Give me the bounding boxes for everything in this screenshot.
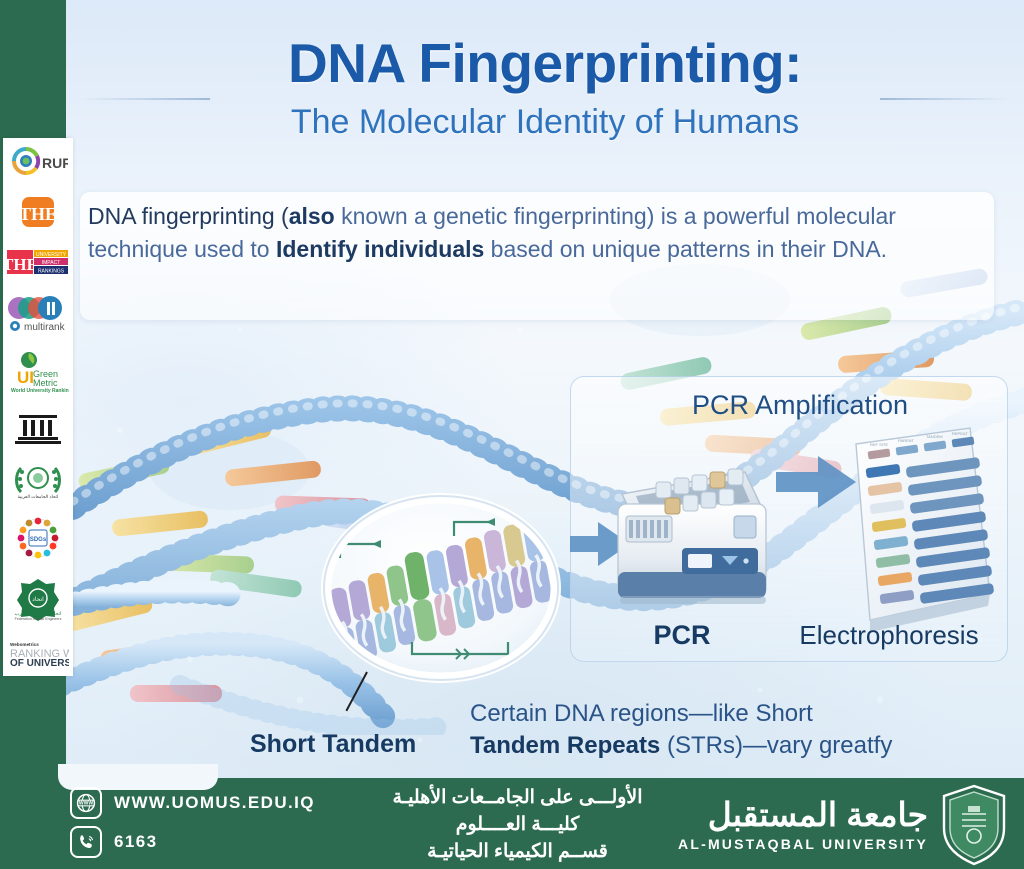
infographic-poster: DNA fingerprinting (also known a genetic… [0, 0, 1024, 869]
str-caption-line2: Tandem Repeats (STRs)—vary greatfy [470, 730, 1015, 762]
arab-universities-union-logo: اتحاد الجامعات العربية [7, 462, 69, 500]
svg-text:SDGs: SDGs [30, 537, 47, 543]
svg-text:IMPACT: IMPACT [42, 260, 61, 266]
svg-text:Federation of Arab Engineers: Federation of Arab Engineers [15, 617, 62, 621]
university-shield-logo [940, 784, 1008, 866]
brand-arabic-name: جامعة المستقبل [678, 798, 928, 833]
pcr-thermocycler [618, 469, 766, 604]
electrophoresis-gel: REF SITEPARENT TANDEMREPEAT [856, 428, 994, 632]
svg-text:RANKINGS: RANKINGS [38, 268, 65, 274]
str-caption-bold: Tandem Repeats [470, 732, 660, 759]
intro-bold-identify: Identify individuals [276, 236, 484, 262]
str-caption: Certain DNA regions—like Short Tandem Re… [470, 698, 1015, 762]
website-row[interactable]: WWW WWW.UOMUS.EDU.IQ [70, 787, 370, 819]
svg-text:Webometrics: Webometrics [10, 642, 39, 647]
intro-bold-also: also [289, 203, 335, 229]
svg-text:RUR: RUR [42, 155, 68, 171]
str-caption-line1: Certain DNA regions—like Short [470, 698, 1015, 730]
university-brand: جامعة المستقبل AL-MUSTAQBAL UNIVERSITY [678, 784, 1008, 866]
classical-pillars-logo [7, 411, 69, 445]
pcr-label: PCR [606, 620, 758, 651]
title-block: DNA Fingerprinting: The Molecular Identi… [66, 34, 1024, 142]
page-title: DNA Fingerprinting: [66, 34, 1024, 93]
footer-arabic-line-1: الأولـــى على الجامــعات الأهليـة [340, 785, 695, 812]
svg-text:اتحاد الجامعات العربية: اتحاد الجامعات العربية [18, 494, 59, 500]
str-caption-rest: (STRs)—vary greatfy [660, 732, 892, 759]
svg-text:TANDEM: TANDEM [926, 434, 943, 439]
intro-paragraph: DNA fingerprinting (also known a genetic… [88, 200, 918, 265]
webometrics-logo: Webometrics RANKING WEB OF UNIVERSITIES [7, 638, 69, 668]
federation-arab-engineers-logo: اتحاد اتحاد المهندسين العرب Federation o… [7, 577, 69, 621]
footer-arabic-line-2: كليـــة العــــلوم [340, 812, 695, 839]
ui-greenmetric-logo: UI Green Metric World University Ranking… [7, 351, 69, 393]
svg-text:THE: THE [7, 255, 38, 274]
intro-tail: based on unique patterns in their DNA. [484, 236, 887, 262]
phone-icon [70, 826, 102, 858]
svg-text:THE: THE [19, 204, 57, 224]
svg-text:multirank: multirank [24, 322, 66, 333]
rur-ranking-logo: RUR [7, 144, 69, 178]
svg-text:Metric: Metric [33, 378, 58, 388]
short-tandem-label: Short Tandem [250, 730, 450, 759]
svg-text:OF UNIVERSITIES: OF UNIVERSITIES [10, 658, 69, 668]
website-text: WWW.UOMUS.EDU.IQ [114, 793, 315, 813]
footer-arabic-line-3: قســم الكيمياء الحياتيـة [340, 839, 695, 866]
sdg-goals-logo: SDGs [7, 517, 69, 559]
svg-text:REF SITE: REF SITE [870, 442, 888, 447]
contact-block: WWW WWW.UOMUS.EDU.IQ 6163 [70, 787, 370, 865]
svg-text:UI: UI [17, 368, 34, 387]
electrophoresis-label: Electrophoresis [778, 620, 1000, 651]
svg-text:WWW: WWW [79, 801, 93, 807]
u-multirank-logo: multirank [7, 294, 69, 334]
the-impact-rankings-logo: THE UNIVERSITY IMPACT RANKINGS [7, 247, 69, 277]
svg-text:REPEAT: REPEAT [952, 431, 968, 436]
pcr-amplification-label: PCR Amplification [600, 390, 1000, 421]
globe-icon: WWW [70, 787, 102, 819]
svg-text:PARENT: PARENT [898, 438, 914, 443]
svg-text:اتحاد: اتحاد [32, 596, 44, 603]
phone-row[interactable]: 6163 [70, 826, 370, 858]
footer-arabic-block: الأولـــى على الجامــعات الأهليـة كليـــ… [340, 785, 695, 866]
arrow-to-electrophoresis [776, 456, 856, 508]
phone-text: 6163 [114, 832, 157, 852]
str-magnifier-inset [312, 492, 570, 684]
svg-text:World University Rankings: World University Rankings [11, 388, 69, 393]
svg-text:UNIVERSITY: UNIVERSITY [36, 252, 67, 258]
the-ranking-logo: THE [7, 195, 69, 229]
brand-english-name: AL-MUSTAQBAL UNIVERSITY [678, 836, 928, 852]
ranking-badges-panel: RUR THE THE UNIVERSITY IMPACT RANKINGS [3, 138, 73, 676]
intro-lead: DNA fingerprinting ( [88, 203, 289, 229]
page-subtitle: The Molecular Identity of Humans [66, 103, 1024, 142]
title-rule-left [80, 98, 210, 100]
title-rule-right [880, 98, 1010, 100]
